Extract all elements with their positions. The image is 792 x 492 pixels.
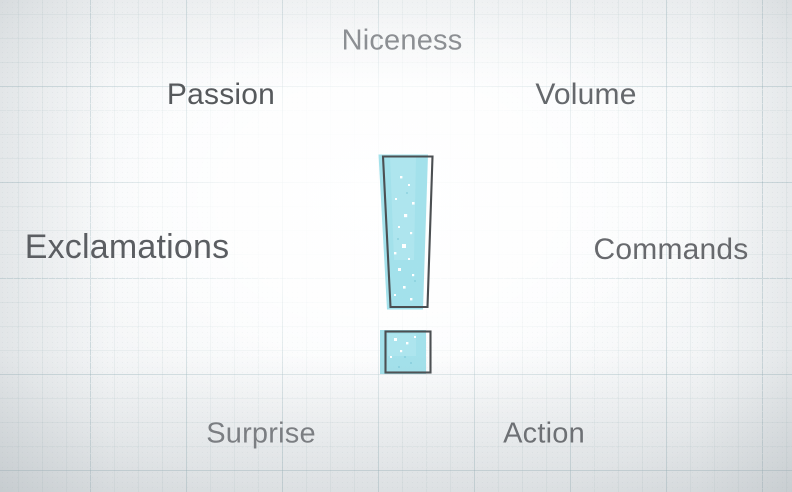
label-exclamations: Exclamations (25, 230, 230, 264)
label-commands: Commands (594, 235, 749, 265)
diagram-canvas: Niceness Passion Volume Exclamations Com… (0, 0, 792, 492)
label-passion: Passion (167, 80, 275, 110)
label-niceness: Niceness (342, 27, 463, 56)
label-volume: Volume (535, 80, 636, 110)
label-action: Action (503, 420, 585, 449)
label-surprise: Surprise (206, 420, 316, 449)
